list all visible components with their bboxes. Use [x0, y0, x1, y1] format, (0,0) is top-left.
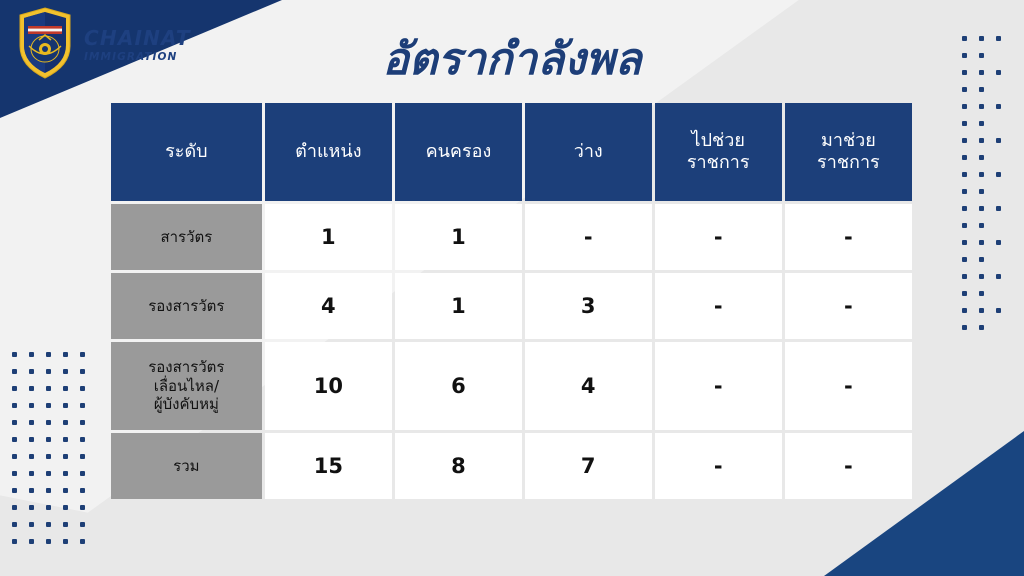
- dot: [46, 454, 51, 459]
- dot: [29, 539, 34, 544]
- dot: [12, 352, 17, 357]
- table-row: รวม1587--: [111, 433, 912, 499]
- dot: [996, 274, 1001, 279]
- dot: [46, 403, 51, 408]
- dot: [979, 155, 984, 160]
- table-cell-value: 3: [525, 273, 652, 339]
- dot-row: [12, 505, 97, 522]
- dot: [12, 369, 17, 374]
- dot: [29, 454, 34, 459]
- row-label: รองสารวัตร: [111, 273, 262, 339]
- table-column-header: มาช่วยราชการ: [785, 103, 912, 201]
- header-line: ไปช่วย: [655, 130, 782, 152]
- dot: [63, 454, 68, 459]
- dot: [29, 352, 34, 357]
- dot: [46, 471, 51, 476]
- dot: [80, 352, 85, 357]
- dot: [12, 437, 17, 442]
- dot: [962, 104, 967, 109]
- dot-row: [12, 352, 97, 369]
- dot-row: [12, 471, 97, 488]
- table-cell-value: -: [655, 204, 782, 270]
- dot-row: [12, 420, 97, 437]
- dot-row: [962, 274, 1024, 308]
- dot: [29, 420, 34, 425]
- dot: [962, 291, 967, 296]
- dot: [962, 206, 967, 211]
- row-label: สารวัตร: [111, 204, 262, 270]
- row-label-line: เลื่อนไหล/: [111, 377, 262, 396]
- dot-row: [962, 308, 1024, 342]
- dot-row: [12, 369, 97, 386]
- dot-row: [962, 104, 1024, 138]
- dot: [996, 206, 1001, 211]
- dot: [63, 437, 68, 442]
- table-cell-value: -: [655, 433, 782, 499]
- table-body: สารวัตร11---รองสารวัตร413--รองสารวัตรเลื…: [111, 204, 912, 499]
- dot: [979, 206, 984, 211]
- dot: [80, 471, 85, 476]
- dot: [46, 488, 51, 493]
- header-line: ราชการ: [785, 152, 912, 174]
- dot: [63, 522, 68, 527]
- table-column-header: ว่าง: [525, 103, 652, 201]
- dot-row: [12, 386, 97, 403]
- dot: [996, 104, 1001, 109]
- dot: [63, 420, 68, 425]
- dot: [962, 189, 967, 194]
- table-cell-value: -: [785, 273, 912, 339]
- table-cell-value: -: [655, 342, 782, 430]
- table-column-header: ระดับ: [111, 103, 262, 201]
- dot: [12, 539, 17, 544]
- dot: [996, 308, 1001, 313]
- row-label-line: รองสารวัตร: [111, 297, 262, 316]
- table-cell-value: 4: [525, 342, 652, 430]
- table-cell-value: 4: [265, 273, 392, 339]
- dot: [979, 172, 984, 177]
- dot: [979, 223, 984, 228]
- dot: [962, 325, 967, 330]
- dot: [979, 274, 984, 279]
- table-column-header: ไปช่วยราชการ: [655, 103, 782, 201]
- dot: [12, 420, 17, 425]
- dot: [46, 386, 51, 391]
- dot: [63, 488, 68, 493]
- table-cell-value: -: [785, 204, 912, 270]
- dot: [979, 257, 984, 262]
- dot: [46, 522, 51, 527]
- header-line: คนครอง: [395, 141, 522, 163]
- dot-row: [12, 522, 97, 539]
- dot: [962, 223, 967, 228]
- dot-row: [12, 488, 97, 505]
- dot: [80, 488, 85, 493]
- table-cell-value: 6: [395, 342, 522, 430]
- dot-row: [12, 539, 97, 556]
- dot: [12, 522, 17, 527]
- dot-row: [962, 206, 1024, 240]
- table-cell-value: -: [525, 204, 652, 270]
- dot: [12, 454, 17, 459]
- table-row: รองสารวัตร413--: [111, 273, 912, 339]
- table-cell-value: -: [655, 273, 782, 339]
- dot: [979, 104, 984, 109]
- dot: [80, 437, 85, 442]
- dot: [979, 308, 984, 313]
- dot: [996, 240, 1001, 245]
- dot: [63, 352, 68, 357]
- header-line: ตำแหน่ง: [265, 141, 392, 163]
- dot: [63, 539, 68, 544]
- dot: [80, 505, 85, 510]
- dot: [80, 403, 85, 408]
- table-cell-value: 8: [395, 433, 522, 499]
- dot: [63, 505, 68, 510]
- header-line: ราชการ: [655, 152, 782, 174]
- dot: [63, 386, 68, 391]
- dot: [962, 155, 967, 160]
- dot-row: [962, 240, 1024, 274]
- table-row: สารวัตร11---: [111, 204, 912, 270]
- dot-grid-left: [12, 352, 97, 556]
- table-cell-value: 7: [525, 433, 652, 499]
- dot: [46, 539, 51, 544]
- dot: [12, 488, 17, 493]
- dot: [29, 505, 34, 510]
- dot-row: [12, 437, 97, 454]
- dot: [962, 257, 967, 262]
- dot: [29, 403, 34, 408]
- dot: [29, 522, 34, 527]
- dot: [12, 505, 17, 510]
- dot: [80, 369, 85, 374]
- header-line: ระดับ: [111, 141, 262, 163]
- dot-row: [962, 138, 1024, 172]
- dot: [962, 274, 967, 279]
- dot: [46, 437, 51, 442]
- table-cell-value: 10: [265, 342, 392, 430]
- dot: [979, 240, 984, 245]
- table-header-row: ระดับตำแหน่งคนครองว่างไปช่วยราชการมาช่วย…: [111, 103, 912, 201]
- dot: [46, 505, 51, 510]
- dot: [29, 488, 34, 493]
- dot: [996, 138, 1001, 143]
- dot: [29, 471, 34, 476]
- dot: [80, 386, 85, 391]
- dot: [979, 291, 984, 296]
- table-cell-value: 1: [395, 273, 522, 339]
- page-title: อัตรากำลังพล: [0, 24, 1024, 94]
- table-cell-value: 15: [265, 433, 392, 499]
- dot: [979, 121, 984, 126]
- dot: [962, 121, 967, 126]
- table-column-header: คนครอง: [395, 103, 522, 201]
- dot: [29, 369, 34, 374]
- table-row: รองสารวัตรเลื่อนไหล/ผู้บังคับหมู่1064--: [111, 342, 912, 430]
- dot: [962, 172, 967, 177]
- table-cell-value: -: [785, 433, 912, 499]
- table-cell-value: -: [785, 342, 912, 430]
- dot: [979, 138, 984, 143]
- row-label-line: สารวัตร: [111, 228, 262, 247]
- table-column-header: ตำแหน่ง: [265, 103, 392, 201]
- dot: [46, 420, 51, 425]
- dot: [63, 403, 68, 408]
- table-header: ระดับตำแหน่งคนครองว่างไปช่วยราชการมาช่วย…: [111, 103, 912, 201]
- dot: [962, 240, 967, 245]
- dot: [996, 172, 1001, 177]
- dot: [12, 403, 17, 408]
- table-cell-value: 1: [395, 204, 522, 270]
- dot: [80, 539, 85, 544]
- row-label-line: ผู้บังคับหมู่: [111, 395, 262, 414]
- dot: [979, 189, 984, 194]
- dot: [12, 386, 17, 391]
- dot: [979, 325, 984, 330]
- dot: [80, 420, 85, 425]
- personnel-table: ระดับตำแหน่งคนครองว่างไปช่วยราชการมาช่วย…: [108, 100, 915, 502]
- header-line: มาช่วย: [785, 130, 912, 152]
- row-label-line: รองสารวัตร: [111, 358, 262, 377]
- dot-row: [962, 172, 1024, 206]
- dot: [63, 471, 68, 476]
- row-label: รวม: [111, 433, 262, 499]
- dot-row: [12, 454, 97, 471]
- header-line: ว่าง: [525, 141, 652, 163]
- dot: [46, 352, 51, 357]
- dot: [12, 471, 17, 476]
- dot: [46, 369, 51, 374]
- dot: [63, 369, 68, 374]
- row-label: รองสารวัตรเลื่อนไหล/ผู้บังคับหมู่: [111, 342, 262, 430]
- row-label-line: รวม: [111, 457, 262, 476]
- dot: [80, 522, 85, 527]
- dot: [80, 454, 85, 459]
- dot: [29, 386, 34, 391]
- dot: [962, 138, 967, 143]
- dot: [29, 437, 34, 442]
- table-cell-value: 1: [265, 204, 392, 270]
- dot-row: [12, 403, 97, 420]
- dot: [962, 308, 967, 313]
